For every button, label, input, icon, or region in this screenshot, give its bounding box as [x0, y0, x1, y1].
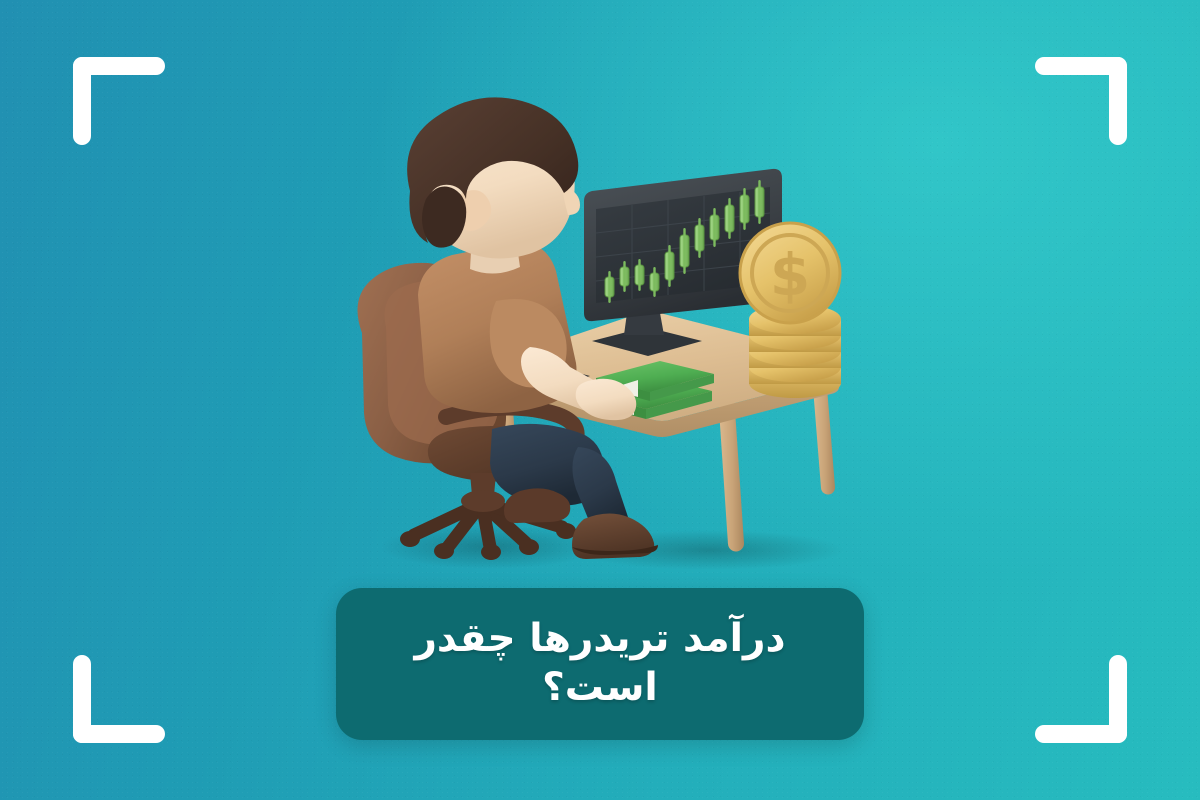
corner-bracket-top-right: [1035, 57, 1127, 145]
coin-stack: $: [740, 223, 841, 398]
bracket-vertical-bar: [73, 57, 91, 145]
trader-at-desk-illustration: $: [340, 95, 870, 575]
bracket-vertical-bar: [1109, 57, 1127, 145]
candle-6: [680, 228, 689, 274]
svg-text:$: $: [770, 241, 810, 309]
corner-bracket-top-left: [73, 57, 165, 145]
bracket-vertical-bar: [1109, 655, 1127, 743]
banner-canvas: $: [0, 0, 1200, 800]
corner-bracket-bottom-right: [1035, 655, 1127, 743]
dollar-coin-icon: $: [740, 223, 840, 323]
bracket-vertical-bar: [73, 655, 91, 743]
caption-title: درآمد تریدرها چقدر است؟: [336, 615, 864, 713]
corner-bracket-bottom-left: [73, 655, 165, 743]
caption-badge: درآمد تریدرها چقدر است؟: [336, 588, 864, 740]
